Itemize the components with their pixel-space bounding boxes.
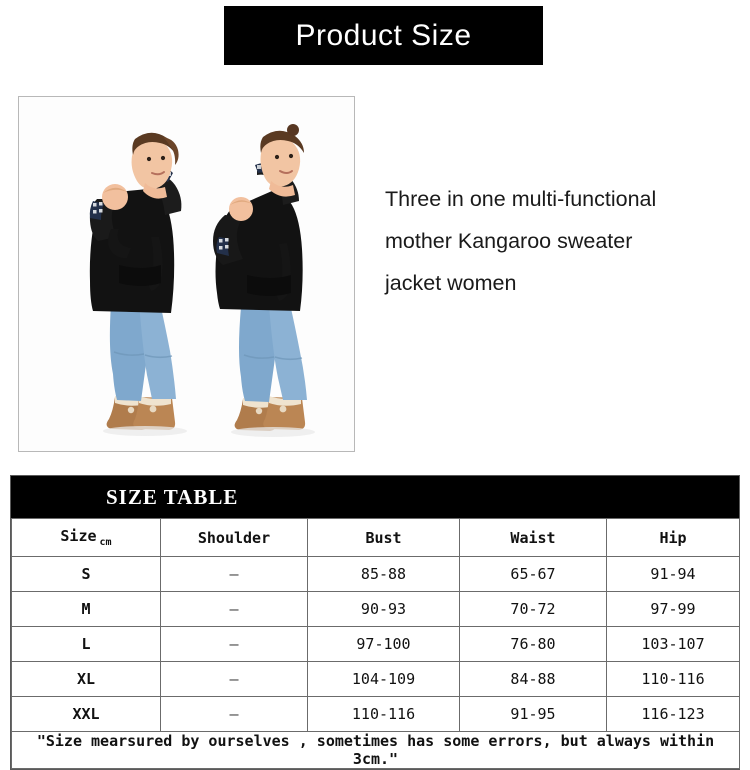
cell-hip: 103-107 — [607, 627, 740, 662]
size-measurements-table: Sizecm Shoulder Bust Waist Hip S – 85-88… — [11, 518, 740, 769]
cell-hip: 116-123 — [607, 697, 740, 732]
cell-size: XXL — [12, 697, 161, 732]
column-header-size-label: Size — [60, 527, 96, 545]
column-header-waist: Waist — [460, 519, 607, 557]
table-row: XXL – 110-116 91-95 116-123 — [12, 697, 740, 732]
column-header-size-unit: cm — [100, 537, 112, 548]
cell-size: XL — [12, 662, 161, 697]
size-measurement-note: "Size mearsured by ourselves , sometimes… — [12, 732, 740, 769]
size-table-title: SIZE TABLE — [106, 485, 238, 510]
cell-waist: 91-95 — [460, 697, 607, 732]
size-table-header-band: SIZE TABLE — [11, 476, 739, 518]
cell-waist: 84-88 — [460, 662, 607, 697]
cell-shoulder: – — [161, 592, 308, 627]
cell-bust: 104-109 — [308, 662, 460, 697]
cell-bust: 110-116 — [308, 697, 460, 732]
table-header-row: Sizecm Shoulder Bust Waist Hip — [12, 519, 740, 557]
cell-hip: 97-99 — [607, 592, 740, 627]
cell-bust: 85-88 — [308, 557, 460, 592]
cell-shoulder: – — [161, 697, 308, 732]
column-header-size: Sizecm — [12, 519, 161, 557]
table-row: S – 85-88 65-67 91-94 — [12, 557, 740, 592]
cell-hip: 91-94 — [607, 557, 740, 592]
product-description: Three in one multi-functional mother Kan… — [385, 178, 735, 304]
table-row: M – 90-93 70-72 97-99 — [12, 592, 740, 627]
cell-size: L — [12, 627, 161, 662]
description-line-3: jacket women — [385, 262, 735, 304]
page-title: Product Size — [295, 21, 471, 51]
size-table: SIZE TABLE Sizecm Shoulder Bust Waist Hi… — [10, 475, 740, 770]
table-row: XL – 104-109 84-88 110-116 — [12, 662, 740, 697]
cell-hip: 110-116 — [607, 662, 740, 697]
table-note-row: "Size mearsured by ourselves , sometimes… — [12, 732, 740, 769]
cell-shoulder: – — [161, 662, 308, 697]
product-photo-illustration — [19, 97, 354, 451]
description-line-1: Three in one multi-functional — [385, 178, 735, 220]
column-header-bust: Bust — [308, 519, 460, 557]
table-row: L – 97-100 76-80 103-107 — [12, 627, 740, 662]
cell-shoulder: – — [161, 557, 308, 592]
column-header-shoulder: Shoulder — [161, 519, 308, 557]
cell-size: M — [12, 592, 161, 627]
product-photo — [18, 96, 355, 452]
cell-waist: 65-67 — [460, 557, 607, 592]
cell-waist: 76-80 — [460, 627, 607, 662]
product-size-banner: Product Size — [224, 6, 543, 65]
cell-shoulder: – — [161, 627, 308, 662]
cell-waist: 70-72 — [460, 592, 607, 627]
description-line-2: mother Kangaroo sweater — [385, 220, 735, 262]
cell-bust: 97-100 — [308, 627, 460, 662]
column-header-hip: Hip — [607, 519, 740, 557]
cell-bust: 90-93 — [308, 592, 460, 627]
cell-size: S — [12, 557, 161, 592]
